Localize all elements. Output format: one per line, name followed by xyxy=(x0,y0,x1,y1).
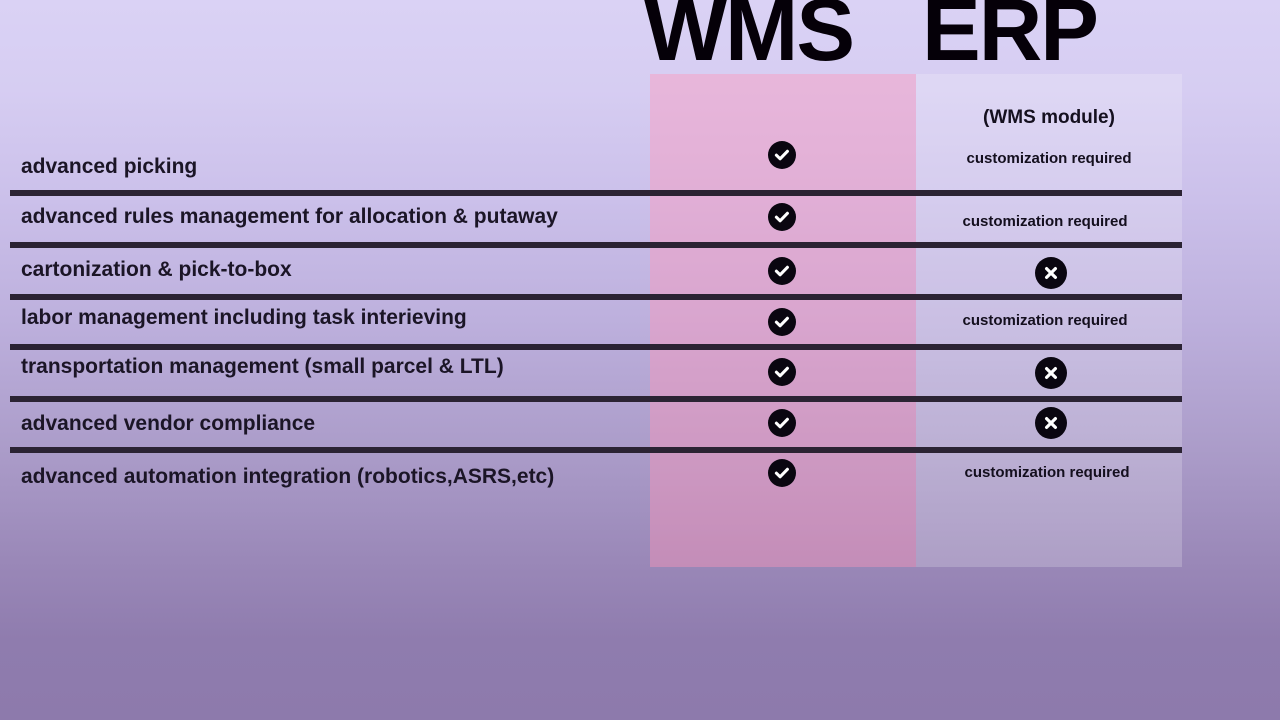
erp-cell-note: customization required xyxy=(914,464,1180,481)
erp-column-title: ERP xyxy=(922,0,1097,74)
row-label: advanced automation integration (robotic… xyxy=(21,465,554,489)
row-label: advanced vendor compliance xyxy=(21,412,315,436)
row-label: transportation management (small parcel … xyxy=(21,355,504,379)
row-divider xyxy=(10,344,1182,350)
row-divider xyxy=(10,447,1182,453)
cross-circle-icon xyxy=(1035,257,1067,289)
wms-column-title: WMS xyxy=(644,0,853,74)
cross-circle-icon xyxy=(1035,357,1067,389)
row-label: advanced picking xyxy=(21,155,197,179)
check-circle-icon xyxy=(768,358,796,386)
check-circle-icon xyxy=(768,257,796,285)
comparison-slide: WMS ERP (WMS module) advanced picking cu… xyxy=(0,0,1280,720)
erp-cell-note: customization required xyxy=(916,150,1182,167)
row-label: cartonization & pick-to-box xyxy=(21,258,292,282)
row-divider xyxy=(10,242,1182,248)
row-divider xyxy=(10,396,1182,402)
row-divider xyxy=(10,294,1182,300)
check-circle-icon xyxy=(768,409,796,437)
row-label: labor management including task interiev… xyxy=(21,306,467,330)
erp-cell-note: customization required xyxy=(912,312,1178,329)
cross-circle-icon xyxy=(1035,407,1067,439)
erp-column-subtitle: (WMS module) xyxy=(916,107,1182,129)
row-label: advanced rules management for allocation… xyxy=(21,205,558,229)
check-circle-icon xyxy=(768,141,796,169)
row-divider xyxy=(10,190,1182,196)
check-circle-icon xyxy=(768,459,796,487)
check-circle-icon xyxy=(768,308,796,336)
erp-cell-note: customization required xyxy=(912,213,1178,230)
check-circle-icon xyxy=(768,203,796,231)
